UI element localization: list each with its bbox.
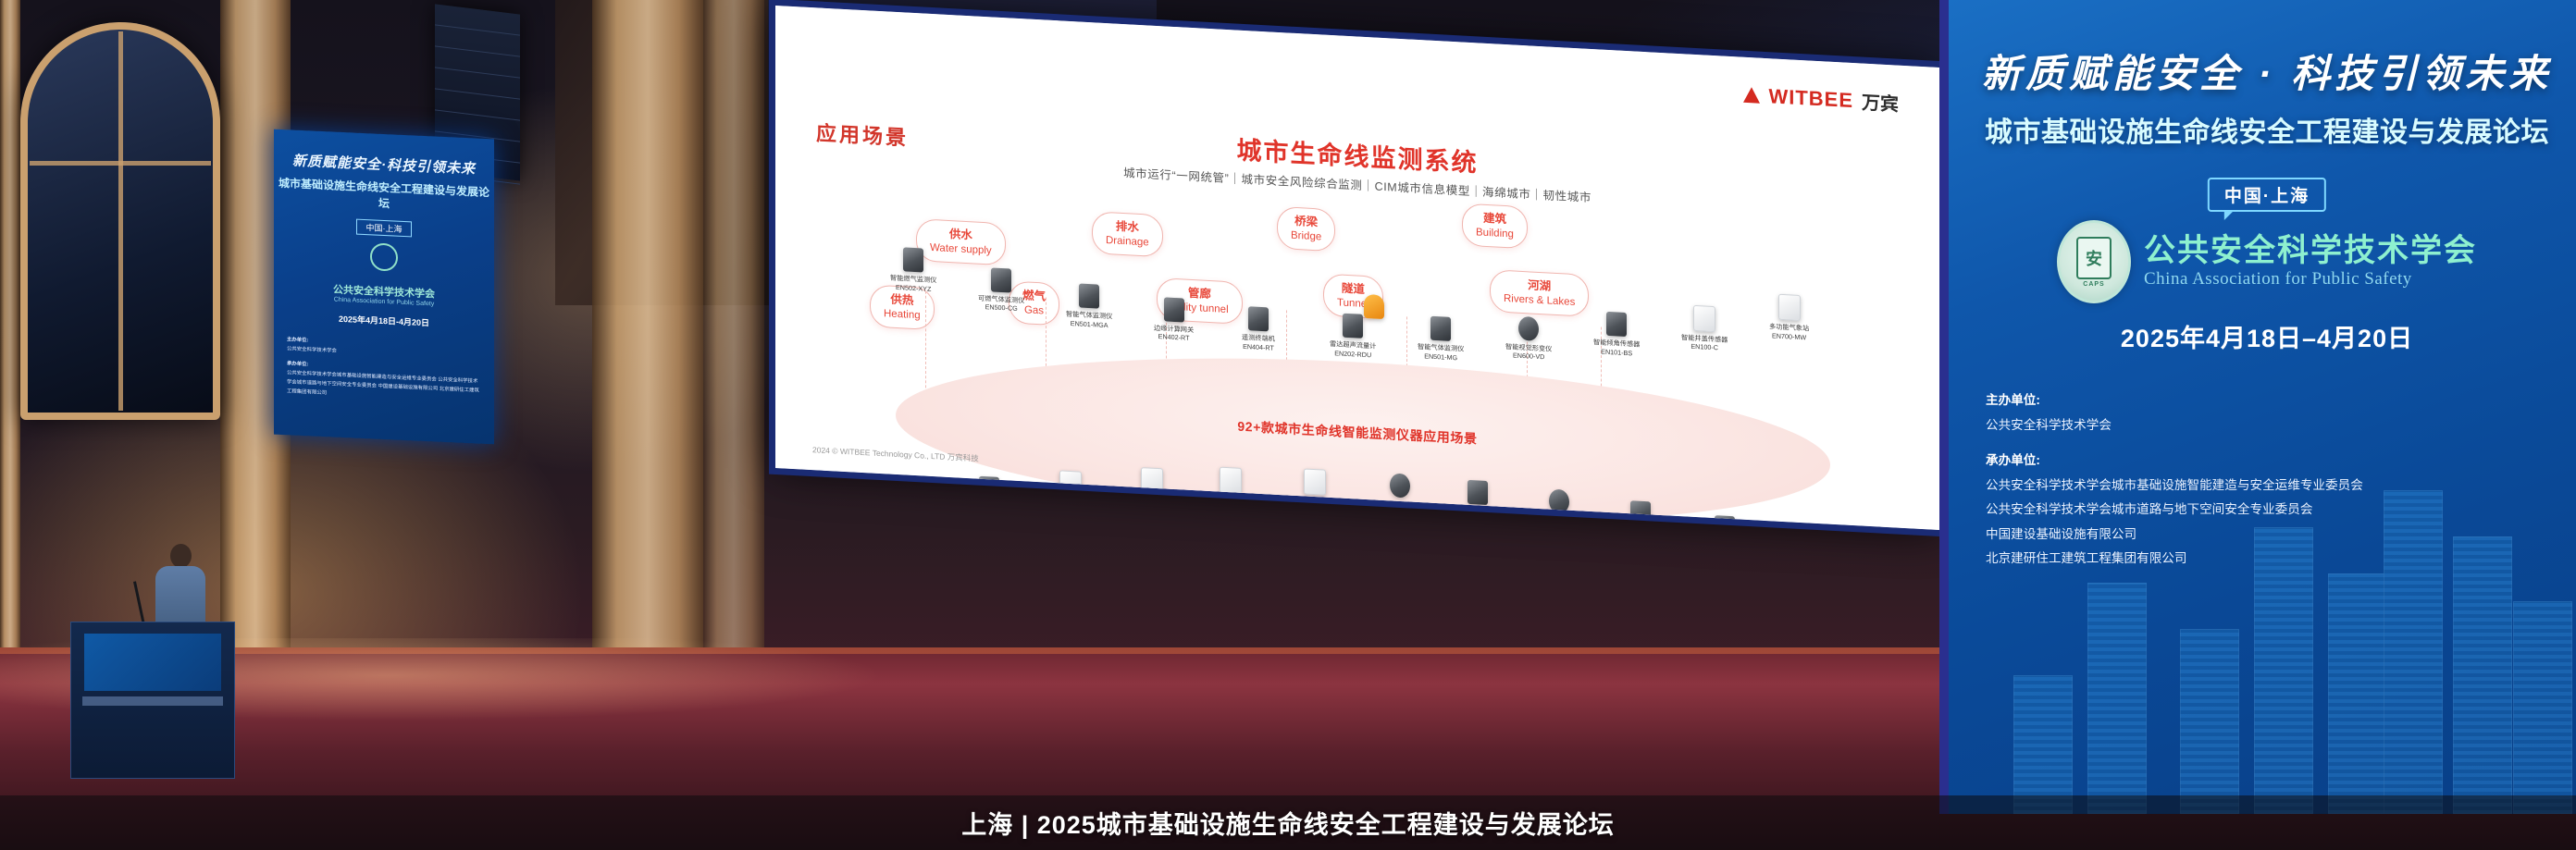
led-organizers: 主办单位: 公共安全科学技术学会 承办单位: 公共安全科学技术学会城市基础设施智…: [287, 335, 481, 405]
led-seal-icon: [370, 242, 398, 271]
led-calligraphy: 新质赋能安全·科技引领未来: [274, 150, 494, 179]
arched-window: [20, 22, 220, 420]
presentation-slide: WITBEE 万宾 应用场景 城市生命线监测系统 城市运行“一网统管”｜城市安全…: [775, 6, 1939, 530]
led-main-title: 城市基础设施生命线安全工程建设与发展论坛: [274, 175, 494, 216]
banner-organizers: 主办单位: 公共安全科学技术学会 承办单位: 公共安全科学技术学会城市基础设施智…: [1986, 388, 2567, 572]
banner-calligraphy: 新质赋能安全 · 科技引领未来: [1949, 43, 2576, 99]
projection-screen: WITBEE 万宾 应用场景 城市生命线监测系统 城市运行“一网统管”｜城市安全…: [775, 6, 1939, 530]
association-cn: 公共安全科学技术学会: [2144, 234, 2477, 268]
association-text: 公共安全科学技术学会 China Association for Public …: [2144, 234, 2477, 289]
device-icon: [1220, 467, 1242, 494]
led-date: 2025年4月18日-4月20日: [274, 310, 494, 332]
conference-stage-photo: 新质赋能安全·科技引领未来 城市基础设施生命线安全工程建设与发展论坛 中国·上海…: [0, 0, 2576, 850]
organizer-line: 公共安全科学技术学会城市道路与地下空间安全专业委员会: [1986, 498, 2567, 523]
led-city-badge: 中国·上海: [356, 219, 412, 238]
organizer-line: 公共安全科学技术学会: [1986, 413, 2567, 438]
skyline-tower: [2513, 601, 2572, 814]
host-items: 公共安全科学技术学会: [1986, 413, 2567, 438]
skyline-tower: [2180, 629, 2239, 814]
association-en: China Association for Public Safety: [2144, 269, 2477, 289]
skyline-tower: [2453, 536, 2512, 814]
skyline-tower: [2013, 675, 2073, 814]
presenter-head: [170, 544, 192, 568]
host-label: 主办单位:: [1986, 388, 2567, 413]
banner-main-title: 城市基础设施生命线安全工程建设与发展论坛: [1949, 109, 2576, 150]
caption-bar: 上海 | 2025城市基础设施生命线安全工程建设与发展论坛: [0, 795, 2576, 850]
caption-text: 上海 | 2025城市基础设施生命线安全工程建设与发展论坛: [961, 805, 1615, 841]
led-host-items: 公共安全科学技术学会: [287, 346, 337, 353]
organizer-items: 公共安全科学技术学会城市基础设施智能建造与安全运维专业委员会公共安全科学技术学会…: [1986, 474, 2567, 572]
device-icon: [1468, 480, 1488, 505]
organizer-label: 承办单位:: [1986, 449, 2567, 474]
seal-glyph: 安: [2076, 237, 2112, 279]
skyline-tower: [2328, 573, 2387, 814]
caps-seal-icon: 安 CAPS: [2057, 220, 2131, 303]
skyline-tower: [2087, 583, 2147, 814]
podium: [70, 622, 235, 779]
device-icon: [1304, 469, 1326, 496]
seal-abbr: CAPS: [2083, 281, 2104, 288]
organizer-line: 北京建研住工建筑工程集团有限公司: [1986, 547, 2567, 572]
organizer-line: 中国建设基础设施有限公司: [1986, 523, 2567, 548]
device-icon: [1390, 474, 1410, 499]
left-led-sign: 新质赋能安全·科技引领未来 城市基础设施生命线安全工程建设与发展论坛 中国·上海…: [274, 129, 494, 445]
banner-city-badge: 中国·上海: [2208, 178, 2326, 212]
organizer-line: 公共安全科学技术学会城市基础设施智能建造与安全运维专业委员会: [1986, 474, 2567, 499]
event-banner: 新质赋能安全 · 科技引领未来 城市基础设施生命线安全工程建设与发展论坛 中国·…: [1939, 0, 2576, 814]
banner-date: 2025年4月18日–4月20日: [1949, 318, 2576, 354]
banner-association: 安 CAPS 公共安全科学技术学会 China Association for …: [1949, 220, 2576, 303]
podium-screen: [84, 634, 221, 691]
podium-nameplate: [82, 696, 223, 706]
